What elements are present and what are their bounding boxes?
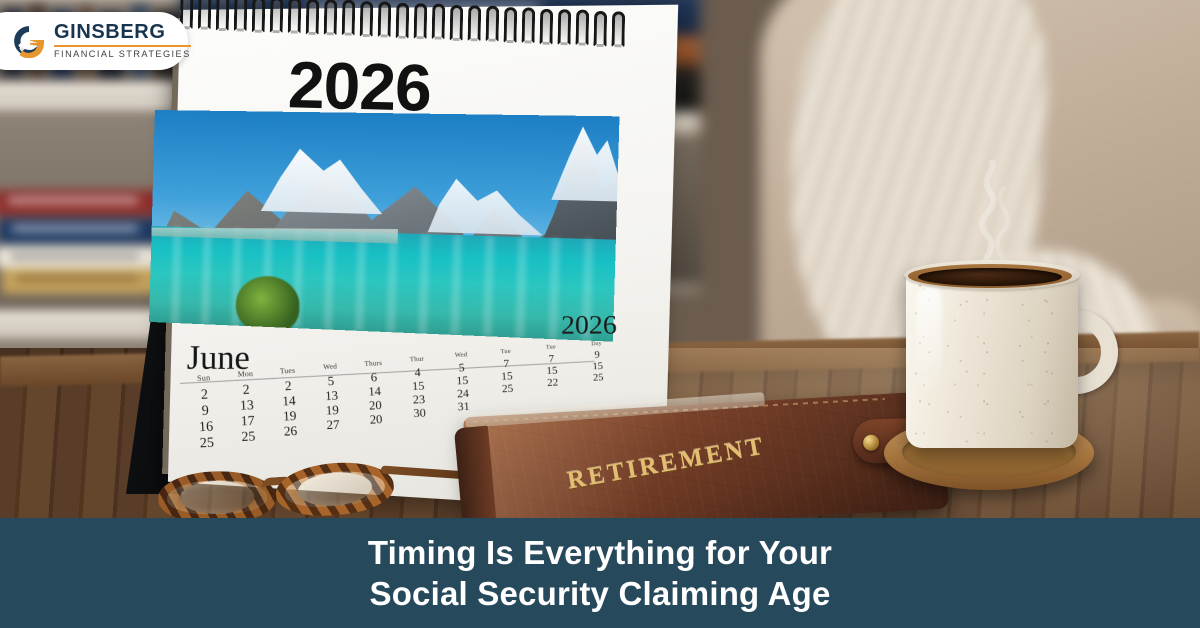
calendar-day-header: Sun (180, 372, 227, 383)
calendar-day-number[interactable]: 30 (399, 407, 440, 422)
calendar-day-number[interactable]: 25 (489, 382, 527, 396)
calendar-day-header: Day (579, 339, 614, 347)
spiral-coil (198, 0, 212, 30)
spiral-coil (324, 0, 338, 35)
tortoiseshell-pattern (158, 470, 277, 524)
spiral-coil (593, 11, 607, 47)
brand-tagline: FINANCIAL STRATEGIES (54, 49, 191, 60)
spiral-coil (414, 3, 428, 39)
calendar-day-number[interactable]: 20 (355, 412, 397, 428)
spiral-coil (504, 7, 518, 43)
calendar-day-header: Tue (487, 347, 525, 356)
calendar-day-header: Tue (533, 343, 569, 352)
calendar-day-header: Thurs (352, 358, 394, 368)
spiral-coil (539, 8, 553, 44)
spiral-coil (450, 5, 464, 41)
calendar-day-number[interactable]: 6 (353, 370, 395, 386)
banner-headline-line2: Social Security Claiming Age (369, 575, 830, 612)
brand-logo-text: GINSBERG FINANCIAL STRATEGIES (54, 22, 191, 60)
calendar-day-column: Tues2141926 (265, 365, 313, 441)
banner-headline: Timing Is Everything for Your Social Sec… (368, 532, 832, 614)
calendar-day-column: Tue71525 (487, 347, 527, 397)
spiral-coil (396, 2, 410, 38)
calendar-day-column: Day91525 (579, 339, 616, 385)
spiral-coil (378, 2, 392, 38)
coffee-surface (918, 268, 1062, 286)
calendar-day-column: Tue71522 (533, 343, 571, 391)
spiral-coil (575, 10, 589, 46)
spiral-coil (486, 6, 500, 42)
calendar-day-number[interactable]: 25 (581, 371, 616, 384)
banner-headline-line1: Timing Is Everything for Your (368, 534, 832, 571)
calendar-day-column: Mon2131725 (223, 369, 272, 447)
spiral-coil (252, 0, 266, 32)
title-banner: Timing Is Everything for Your Social Sec… (0, 518, 1200, 628)
calendar-photo-mountain-lake (149, 110, 619, 342)
brand-divider (54, 45, 191, 47)
calendar-day-column: Thurs6142020 (352, 358, 397, 428)
brand-logo[interactable]: GINSBERG FINANCIAL STRATEGIES (0, 12, 188, 70)
eyeglass-lens-right (274, 458, 396, 520)
book-title-blur (12, 226, 138, 231)
calendar-day-column: Wed5152431 (442, 350, 484, 415)
spiral-coil (611, 11, 625, 47)
calendar-day-number[interactable]: 20 (354, 398, 396, 414)
calendar-day-header: Thur (397, 354, 437, 364)
calendar-day-number[interactable]: 25 (226, 429, 272, 447)
mug-gloss-highlight (916, 286, 942, 396)
spiral-coil (216, 0, 230, 31)
calendar-day-number[interactable]: 25 (183, 435, 230, 453)
calendar-day-number[interactable]: 27 (311, 418, 354, 434)
spiral-coil (342, 0, 356, 36)
eyeglass-lens-left (158, 470, 277, 524)
calendar-year-small: 2026 (561, 311, 617, 341)
calendar-day-column: Thur4152330 (397, 354, 440, 422)
spiral-coil (360, 1, 374, 37)
mug-rim (904, 260, 1080, 290)
calendar-day-number[interactable]: 16 (183, 419, 230, 437)
calendar-day-header: Mon (223, 369, 269, 380)
calendar-day-number[interactable]: 14 (267, 393, 312, 410)
calendar-day-column: Wed5131927 (309, 361, 355, 434)
spiral-coil (557, 9, 571, 45)
spiral-coil (468, 5, 482, 41)
ginsberg-g-monogram-icon (12, 24, 46, 58)
spiral-coil (234, 0, 248, 32)
calendar-day-number[interactable]: 19 (268, 409, 313, 426)
spiral-coil (270, 0, 284, 33)
spiral-coil (288, 0, 302, 34)
promo-graphic: 2026 2026 June Sun291625Mon2131725Tues21… (0, 0, 1200, 628)
spiral-coil (522, 8, 536, 44)
calendar-day-number[interactable]: 22 (535, 377, 571, 391)
mug-body (906, 268, 1078, 448)
tortoiseshell-pattern (274, 458, 396, 520)
calendar-day-number[interactable]: 14 (354, 384, 396, 400)
book-title-blur (16, 276, 139, 281)
calendar-day-header: Wed (309, 361, 352, 371)
spiral-coil (306, 0, 320, 35)
book-title-blur (8, 198, 138, 203)
spiral-coil (432, 4, 446, 40)
brand-name: GINSBERG (54, 22, 191, 43)
coffee-mug (906, 268, 1084, 450)
book-title-blur (10, 254, 140, 259)
calendar-day-header: Wed (442, 350, 481, 359)
calendar-day-header: Tues (265, 365, 309, 376)
calendar-day-number[interactable]: 26 (268, 424, 313, 441)
